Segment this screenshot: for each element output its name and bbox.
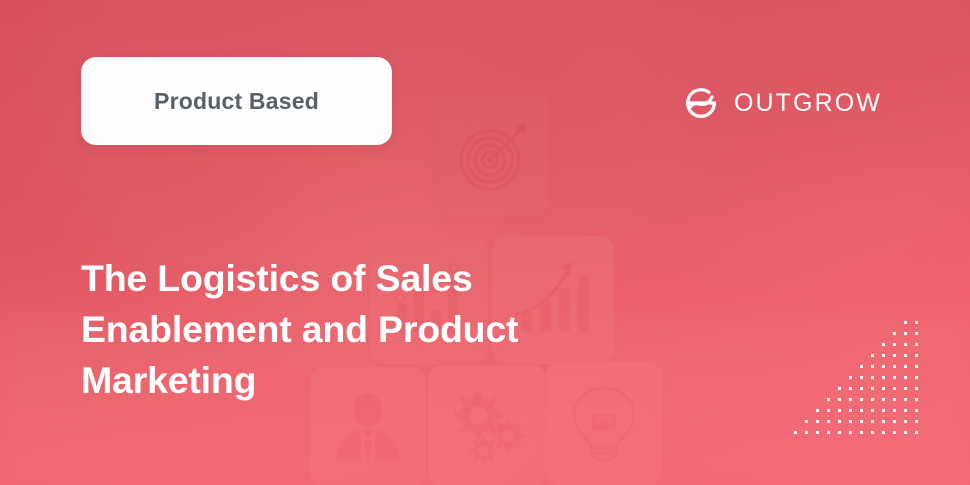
page-title: The Logistics of Sales Enablement and Pr… [81,253,601,406]
banner-foreground: Product Based OUTGROW The Logistics of S… [0,0,970,485]
dot-triangle-pattern [794,321,928,443]
promo-banner: Product Based OUTGROW The Logistics of S… [0,0,970,485]
category-tag-card[interactable]: Product Based [81,57,392,145]
outgrow-logo-text: OUTGROW [734,89,882,118]
headline-line-1: The Logistics of Sales [81,253,601,304]
outgrow-logo[interactable]: OUTGROW [682,84,882,122]
category-tag-label: Product Based [154,88,319,115]
headline-line-3: Marketing [81,355,601,406]
outgrow-logo-mark-icon [682,84,720,122]
headline-line-2: Enablement and Product [81,304,601,355]
